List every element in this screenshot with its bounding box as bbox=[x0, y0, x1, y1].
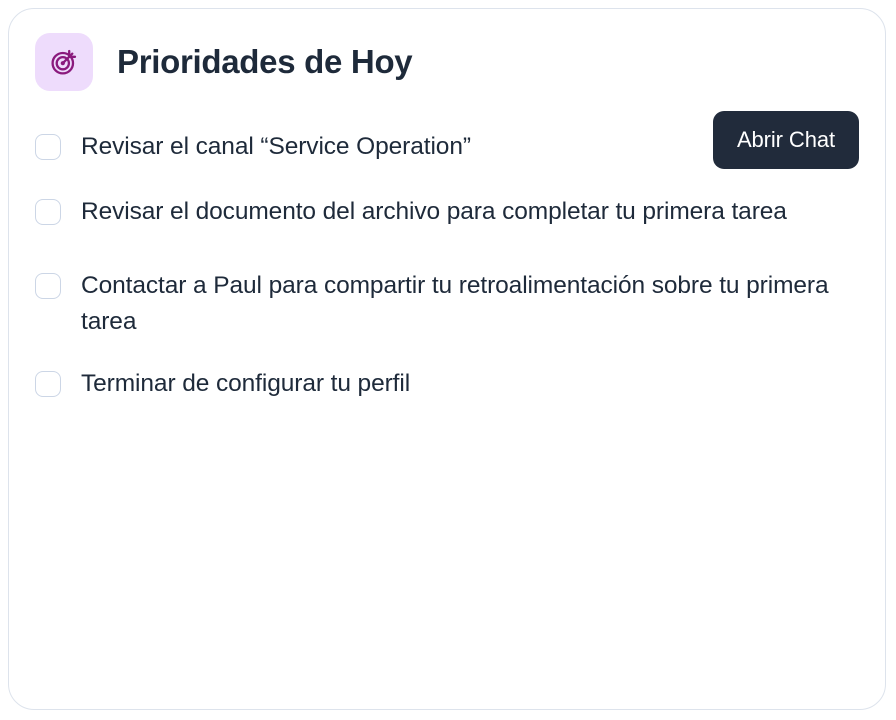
today-priorities-card: Prioridades de Hoy Revisar el canal “Ser… bbox=[8, 8, 886, 710]
task-row[interactable]: Contactar a Paul para compartir tu retro… bbox=[35, 263, 859, 345]
task-label: Revisar el canal “Service Operation” bbox=[81, 129, 471, 165]
task-row[interactable]: Revisar el canal “Service Operation” Abr… bbox=[35, 111, 859, 183]
task-checkbox[interactable] bbox=[35, 371, 61, 397]
task-label: Contactar a Paul para compartir tu retro… bbox=[81, 268, 851, 340]
card-header: Prioridades de Hoy bbox=[9, 9, 885, 91]
page-title: Prioridades de Hoy bbox=[117, 43, 412, 81]
open-chat-button[interactable]: Abrir Chat bbox=[713, 111, 859, 169]
task-checkbox[interactable] bbox=[35, 199, 61, 225]
task-row[interactable]: Terminar de configurar tu perfil bbox=[35, 351, 859, 417]
task-list: Revisar el canal “Service Operation” Abr… bbox=[9, 111, 885, 417]
task-row[interactable]: Revisar el documento del archivo para co… bbox=[35, 189, 859, 255]
task-label: Revisar el documento del archivo para co… bbox=[81, 194, 787, 230]
target-goal-icon bbox=[35, 33, 93, 91]
task-label: Terminar de configurar tu perfil bbox=[81, 366, 410, 402]
task-checkbox[interactable] bbox=[35, 134, 61, 160]
task-checkbox[interactable] bbox=[35, 273, 61, 299]
